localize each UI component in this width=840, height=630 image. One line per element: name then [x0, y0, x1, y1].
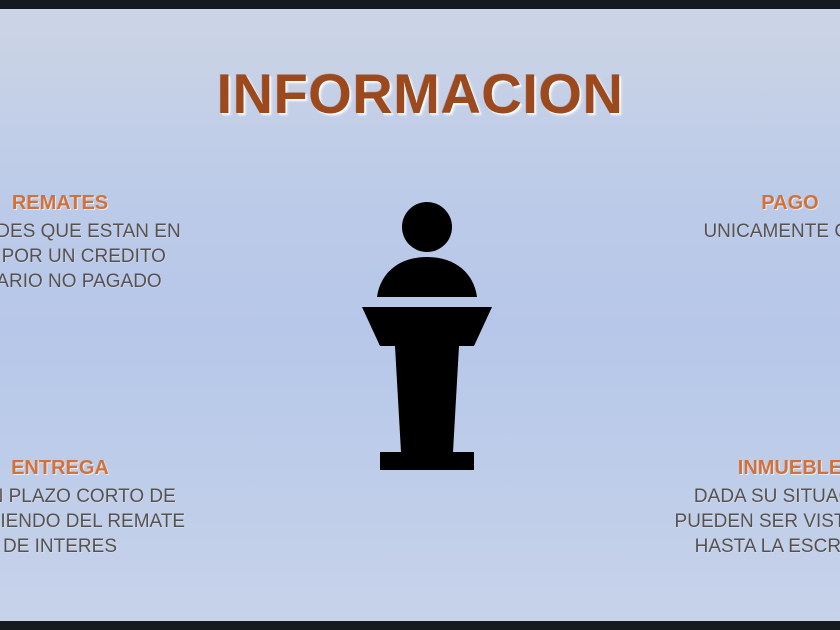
block-heading-remates: REMATES: [0, 192, 220, 215]
content-block-entrega: ENTREGA DE UN PLAZO CORTO DE EPENDIENDO …: [0, 457, 220, 559]
content-block-inmuebles: INMUEBLE DADA SU SITUACION PUEDEN SER VI…: [620, 457, 840, 559]
block-body-inmuebles: DADA SU SITUACION PUEDEN SER VISTOS PO H…: [620, 484, 840, 559]
block-body-remates: PIEDADES QUE ESTAN EN NTIA POR UN CREDIT…: [0, 219, 220, 294]
letterbox-bar-bottom: [0, 621, 840, 630]
presentation-slide: INFORMACION REMATES PIEDADES QUE ESTAN E…: [0, 9, 840, 621]
block-line: DE INTERES: [0, 534, 220, 559]
slide-screenshot: INFORMACION REMATES PIEDADES QUE ESTAN E…: [0, 0, 840, 630]
block-line: TECARIO NO PAGADO: [0, 269, 220, 294]
content-block-pago: PAGO UNICAMENTE CON: [620, 192, 840, 244]
block-heading-entrega: ENTREGA: [0, 457, 220, 480]
block-body-pago: UNICAMENTE CON: [620, 219, 840, 244]
block-heading-pago: PAGO: [620, 192, 840, 215]
block-line: PIEDADES QUE ESTAN EN: [0, 219, 220, 244]
block-line: NTIA POR UN CREDITO: [0, 244, 220, 269]
block-line: HASTA LA ESCRITUR: [620, 534, 840, 559]
podium-speaker-icon: [352, 194, 502, 484]
block-line: PUEDEN SER VISTOS PO: [620, 509, 840, 534]
block-line: UNICAMENTE CON: [620, 219, 840, 244]
content-block-remates: REMATES PIEDADES QUE ESTAN EN NTIA POR U…: [0, 192, 220, 294]
letterbox-bar-top: [0, 0, 840, 9]
page-title: INFORMACION: [0, 61, 840, 126]
block-line: DE UN PLAZO CORTO DE: [0, 484, 220, 509]
block-heading-inmuebles: INMUEBLE: [620, 457, 840, 480]
block-line: DADA SU SITUACION: [620, 484, 840, 509]
block-line: EPENDIENDO DEL REMATE: [0, 509, 220, 534]
block-body-entrega: DE UN PLAZO CORTO DE EPENDIENDO DEL REMA…: [0, 484, 220, 559]
